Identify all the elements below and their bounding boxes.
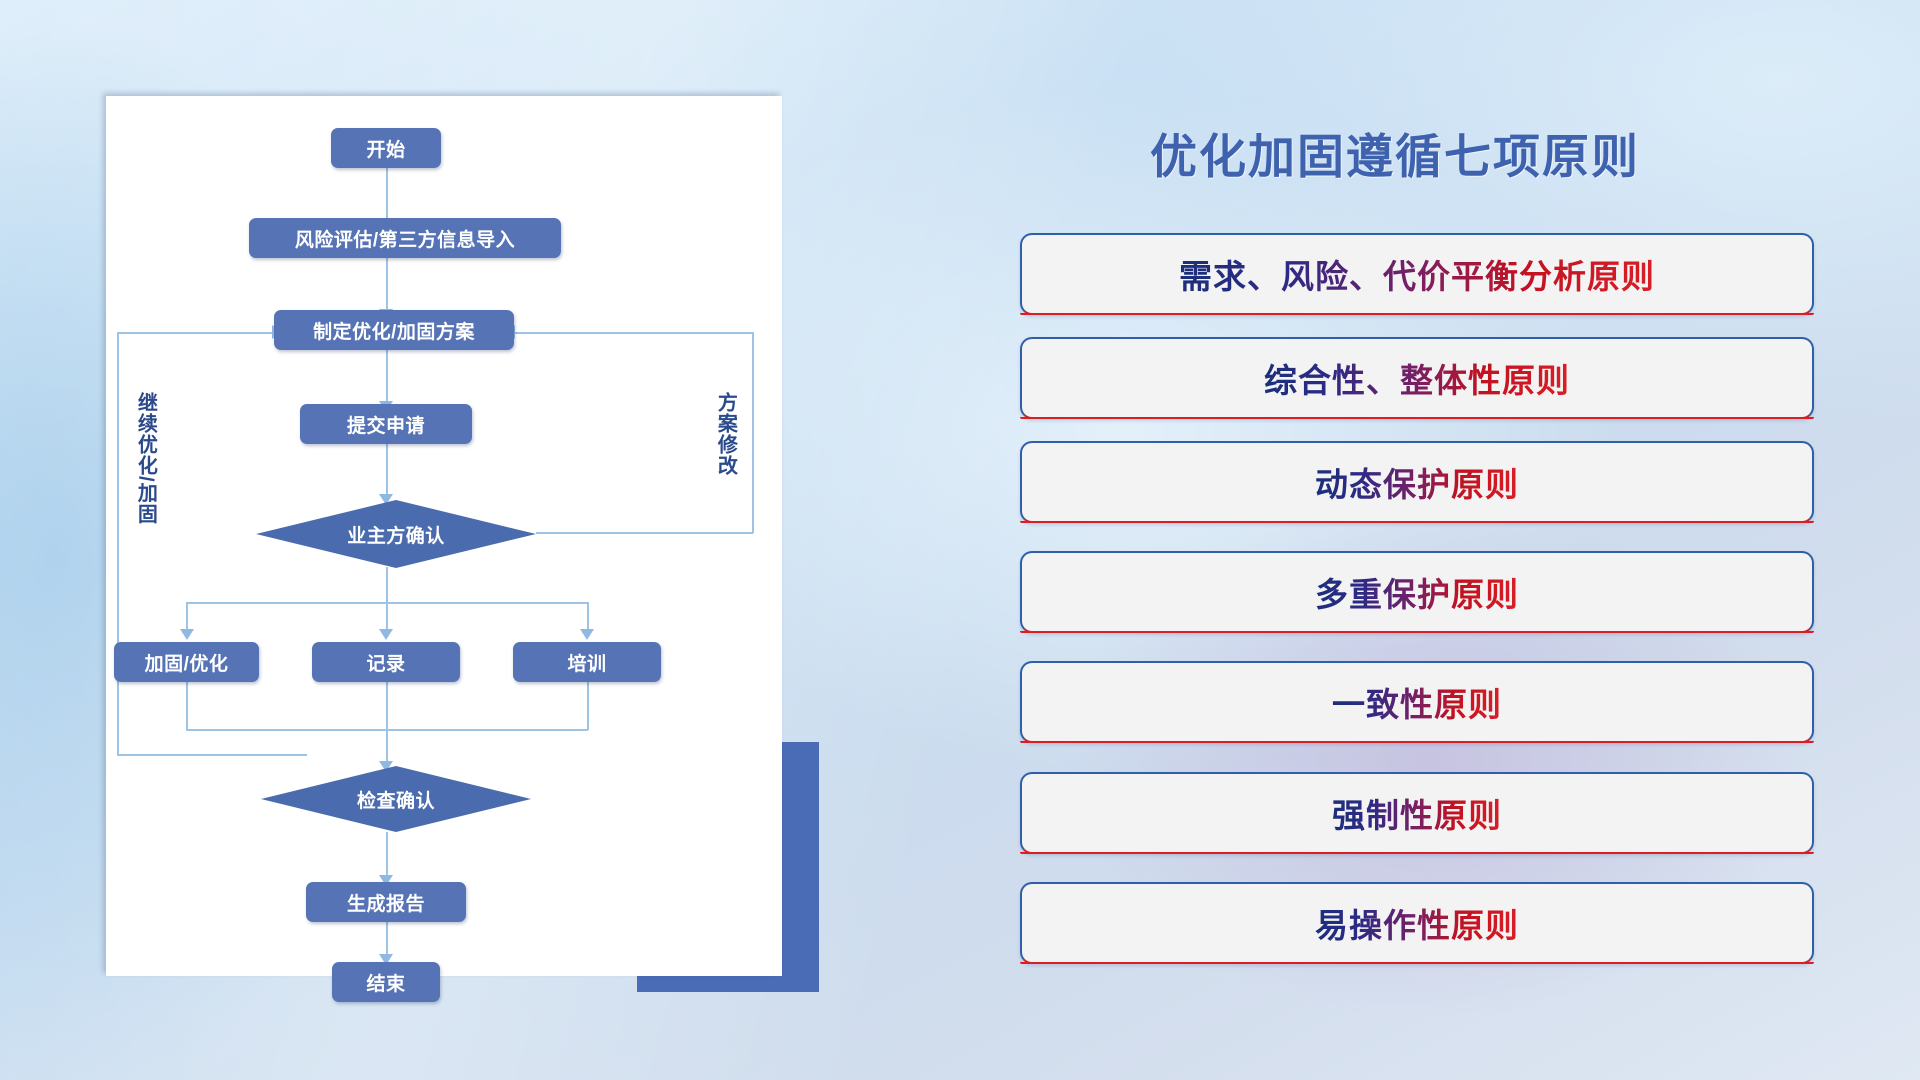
flow-node-submit[interactable]: 提交申请 — [300, 404, 472, 444]
connector-left-loop-bottom — [117, 754, 307, 756]
connector-right-loop-vertical — [752, 332, 754, 533]
flow-node-end-label: 结束 — [366, 969, 405, 996]
flow-node-record[interactable]: 记录 — [312, 642, 460, 682]
flow-node-report-label: 生成报告 — [347, 889, 425, 916]
connector-plan-submit — [386, 349, 388, 407]
principle-card-2-label: 综合性、整体性原则 — [1264, 354, 1570, 402]
principle-card-1-label: 需求、风险、代价平衡分析原则 — [1179, 250, 1655, 298]
principle-card-1[interactable]: 需求、风险、代价平衡分析原则 — [1020, 233, 1814, 315]
flow-node-start-label: 开始 — [366, 135, 405, 162]
connector-owner-down — [386, 567, 388, 603]
principle-card-7-label: 易操作性原则 — [1315, 899, 1519, 947]
principle-card-4-label: 多重保护原则 — [1315, 568, 1519, 616]
connector-merge-down — [386, 682, 388, 767]
connector-merge-right — [587, 682, 589, 730]
connector-left-loop-vertical — [117, 332, 119, 755]
flow-node-reinforce-label: 加固/优化 — [145, 649, 229, 676]
connector-merge-left — [186, 682, 188, 730]
connector-start-risk — [386, 168, 388, 224]
arrow-to-record — [379, 629, 393, 640]
flowchart-card: 开始 风险评估/第三方信息导入 制定优化/加固方案 提交申请 业主方确认 加固/… — [106, 96, 782, 976]
connector-right-loop-top — [514, 332, 753, 334]
flow-node-check-confirm-label: 检查确认 — [357, 786, 435, 813]
connector-left-loop-top — [117, 332, 275, 334]
flow-node-end[interactable]: 结束 — [332, 962, 440, 1002]
principle-card-3-label: 动态保护原则 — [1315, 458, 1519, 506]
flow-node-start[interactable]: 开始 — [331, 128, 441, 168]
flow-node-reinforce[interactable]: 加固/优化 — [114, 642, 259, 682]
principle-card-3[interactable]: 动态保护原则 — [1020, 441, 1814, 523]
flow-node-submit-label: 提交申请 — [347, 411, 425, 438]
flow-node-risk-assessment-label: 风险评估/第三方信息导入 — [295, 225, 515, 252]
principle-card-5-label: 一致性原则 — [1332, 678, 1502, 726]
flow-node-risk-assessment[interactable]: 风险评估/第三方信息导入 — [249, 218, 561, 258]
principles-panel: 优化加固遵循七项原则 需求、风险、代价平衡分析原则 综合性、整体性原则 动态保护… — [1020, 96, 1850, 996]
principle-card-5[interactable]: 一致性原则 — [1020, 661, 1814, 743]
principle-card-4[interactable]: 多重保护原则 — [1020, 551, 1814, 633]
flow-node-owner-confirm[interactable]: 业主方确认 — [256, 500, 536, 568]
flow-node-plan-label: 制定优化/加固方案 — [313, 317, 475, 344]
arrow-to-training — [580, 629, 594, 640]
arrow-to-reinforce — [180, 629, 194, 640]
flow-node-owner-confirm-label: 业主方确认 — [347, 521, 445, 548]
edge-label-plan-revision: 方案修改 — [714, 392, 736, 476]
connector-right-loop-bottom — [536, 532, 753, 534]
flow-node-report[interactable]: 生成报告 — [306, 882, 466, 922]
flow-node-plan[interactable]: 制定优化/加固方案 — [274, 310, 514, 350]
connector-check-report — [386, 832, 388, 881]
flow-node-training-label: 培训 — [567, 649, 606, 676]
panel-title: 优化加固遵循七项原则 — [1150, 118, 1640, 187]
principle-card-2[interactable]: 综合性、整体性原则 — [1020, 337, 1814, 419]
principle-card-6-label: 强制性原则 — [1332, 789, 1502, 837]
connector-submit-owner — [386, 444, 388, 500]
principle-card-7[interactable]: 易操作性原则 — [1020, 882, 1814, 964]
principle-card-6[interactable]: 强制性原则 — [1020, 772, 1814, 854]
edge-label-continue-optimize: 继续优化/加固 — [134, 392, 156, 525]
flow-node-record-label: 记录 — [366, 649, 405, 676]
flow-node-check-confirm[interactable]: 检查确认 — [261, 766, 531, 832]
connector-risk-plan — [386, 258, 388, 315]
flow-node-training[interactable]: 培训 — [513, 642, 661, 682]
